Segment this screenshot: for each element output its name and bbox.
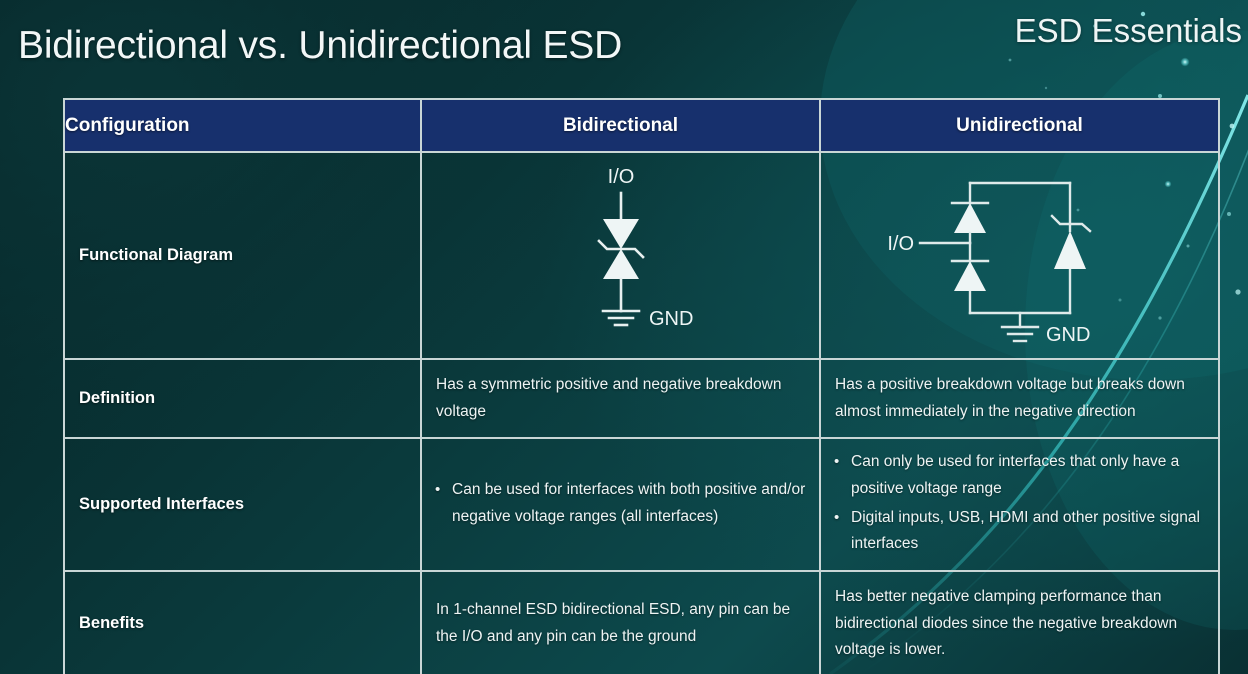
bidirectional-diagram: I/O GND [422, 153, 819, 358]
table-row: Definition Has a symmetric positive and … [64, 359, 1219, 438]
table-header: Configuration Bidirectional Unidirection… [64, 99, 1219, 152]
cell-unidirectional-definition: Has a positive breakdown voltage but bre… [820, 359, 1219, 438]
slide-canvas: Bidirectional vs. Unidirectional ESD ESD… [0, 0, 1248, 674]
row-label: Supported Interfaces [65, 487, 420, 522]
column-header-configuration: Configuration [64, 99, 421, 152]
gnd-label: GND [1046, 324, 1090, 346]
cell-text: Has a symmetric positive and negative br… [422, 360, 819, 437]
cell-bidirectional-diagram: I/O GND [421, 152, 820, 359]
cell-unidirectional-interfaces: Can only be used for interfaces that onl… [820, 438, 1219, 571]
cell-unidirectional-benefits: Has better negative clamping performance… [820, 571, 1219, 674]
cell-bidirectional-benefits: In 1-channel ESD bidirectional ESD, any … [421, 571, 820, 674]
table-header-row: Configuration Bidirectional Unidirection… [64, 99, 1219, 152]
back-to-back-zener-symbol: I/O GND [521, 161, 721, 351]
table-row: Supported Interfaces Can be used for int… [64, 438, 1219, 571]
row-label: Benefits [65, 606, 420, 641]
row-label-cell-benefits: Benefits [64, 571, 421, 674]
table-row: Functional Diagram [64, 152, 1219, 359]
page-title: Bidirectional vs. Unidirectional ESD [18, 24, 622, 68]
row-label: Definition [65, 381, 420, 416]
bullet-list: Can only be used for interfaces that onl… [821, 439, 1218, 570]
column-header-bidirectional: Bidirectional [421, 99, 820, 152]
list-item: Can only be used for interfaces that onl… [851, 449, 1208, 502]
gnd-label: GND [649, 308, 693, 330]
cell-bidirectional-interfaces: Can be used for interfaces with both pos… [421, 438, 820, 571]
slide-kicker: ESD Essentials [1015, 12, 1242, 50]
comparison-table: Configuration Bidirectional Unidirection… [63, 98, 1220, 674]
cell-bidirectional-definition: Has a symmetric positive and negative br… [421, 359, 820, 438]
row-label-cell-supported-interfaces: Supported Interfaces [64, 438, 421, 571]
steering-diodes-with-zener-symbol: I/O GND [880, 161, 1160, 351]
io-label: I/O [607, 166, 634, 188]
table-row: Benefits In 1-channel ESD bidirectional … [64, 571, 1219, 674]
bullet-list: Can be used for interfaces with both pos… [422, 467, 819, 542]
list-item: Digital inputs, USB, HDMI and other posi… [851, 505, 1208, 558]
row-label-cell-functional-diagram: Functional Diagram [64, 152, 421, 359]
unidirectional-diagram: I/O GND [821, 153, 1218, 358]
row-label: Functional Diagram [65, 238, 420, 273]
cell-text: Has better negative clamping performance… [821, 572, 1218, 674]
column-header-unidirectional: Unidirectional [820, 99, 1219, 152]
row-label-cell-definition: Definition [64, 359, 421, 438]
cell-text: Has a positive breakdown voltage but bre… [821, 360, 1218, 437]
io-label: I/O [887, 233, 914, 255]
list-item: Can be used for interfaces with both pos… [452, 477, 809, 530]
cell-text: In 1-channel ESD bidirectional ESD, any … [422, 585, 819, 662]
cell-unidirectional-diagram: I/O GND [820, 152, 1219, 359]
table-body: Functional Diagram [64, 152, 1219, 674]
